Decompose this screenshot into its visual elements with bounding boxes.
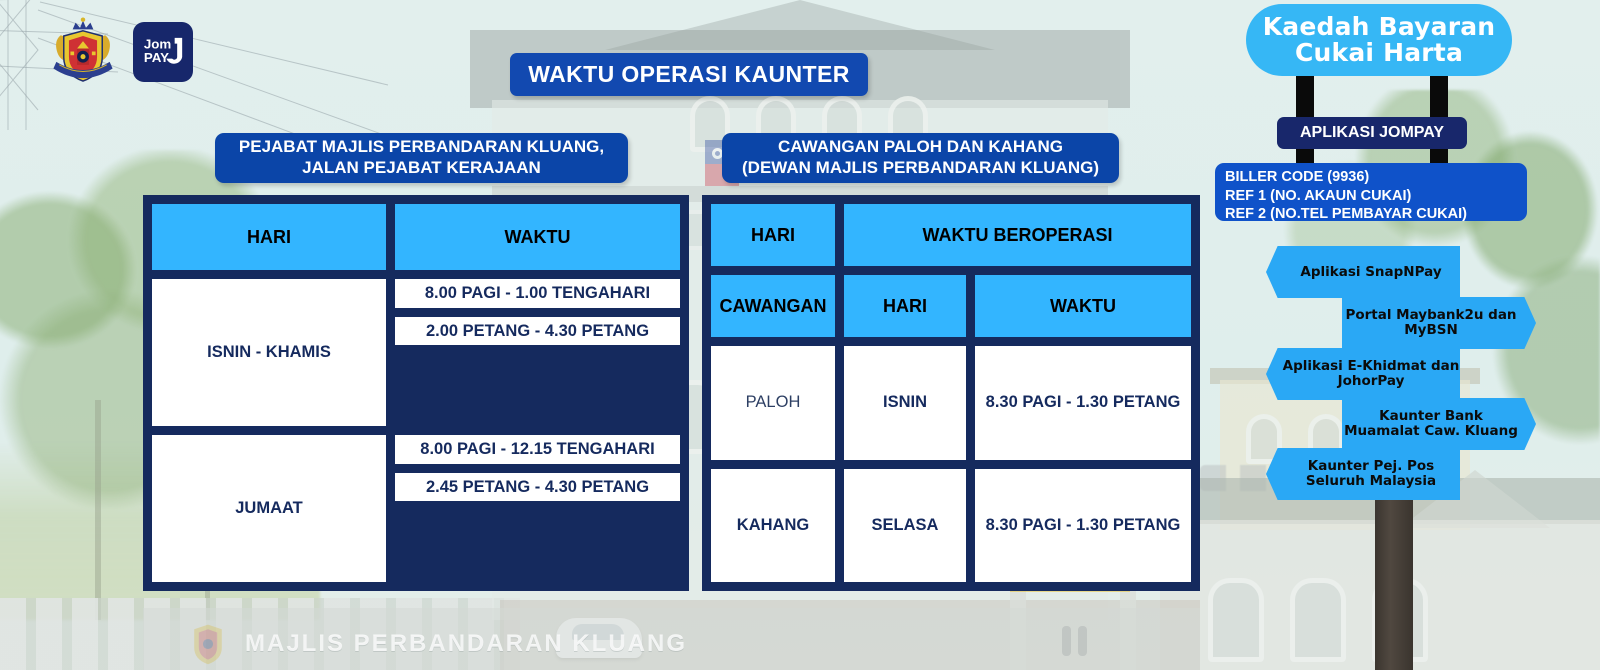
- table-header-row: HARI WAKTU: [152, 204, 680, 270]
- signpost-headline-line2: Cukai Harta: [1263, 40, 1496, 66]
- time-cell: 8.00 PAGI - 12.15 TENGAHARI: [395, 435, 680, 464]
- branch-cell-paloh: PALOH: [711, 346, 835, 460]
- biller-info-panel: BILLER CODE (9936) REF 1 (NO. AKAUN CUKA…: [1215, 163, 1527, 221]
- column-header-waktu-beroperasi: WAKTU BEROPERASI: [844, 204, 1191, 266]
- branch-cell-kahang: KAHANG: [711, 469, 835, 583]
- column-header-waktu: WAKTU: [395, 204, 680, 270]
- svg-text:PAY: PAY: [144, 50, 169, 65]
- time-cell: 8.30 PAGI - 1.30 PETANG: [975, 346, 1191, 460]
- time-cell: 2.00 PETANG - 4.30 PETANG: [395, 317, 680, 346]
- table-header-row-top: HARI WAKTU BEROPERASI: [711, 204, 1191, 266]
- column-header-hari: HARI: [711, 204, 835, 266]
- right-section-banner: CAWANGAN PALOH DAN KAHANG (DEWAN MAJLIS …: [722, 133, 1119, 183]
- payment-channel-arrow-5[interactable]: Kaunter Pej. Pos Seluruh Malaysia: [1266, 448, 1460, 500]
- time-cell: 8.30 PAGI - 1.30 PETANG: [975, 469, 1191, 583]
- time-cell: 8.00 PAGI - 1.00 TENGAHARI: [395, 279, 680, 308]
- page-title: WAKTU OPERASI KAUNTER: [510, 53, 868, 96]
- payment-channel-arrow-1[interactable]: Aplikasi SnapNPay: [1266, 246, 1460, 298]
- time-cell: 2.45 PETANG - 4.30 PETANG: [395, 473, 680, 502]
- counter-hours-table-branches: HARI WAKTU BEROPERASI CAWANGAN HARI WAKT…: [702, 195, 1200, 591]
- column-header-hari: HARI: [152, 204, 386, 270]
- payment-channel-arrow-3[interactable]: Aplikasi E-Khidmat dan JohorPay: [1266, 348, 1460, 400]
- column-header-hari-sub: HARI: [844, 275, 966, 337]
- table-header-row-sub: CAWANGAN HARI WAKTU: [711, 275, 1191, 337]
- day-cell-selasa: SELASA: [844, 469, 966, 583]
- column-header-cawangan: CAWANGAN: [711, 275, 835, 337]
- counter-hours-table-main: HARI WAKTU ISNIN - KHAMIS 8.00 PAGI - 1.…: [143, 195, 689, 591]
- payment-channel-arrow-4[interactable]: Kaunter Bank Muamalat Caw. Kluang: [1342, 398, 1536, 450]
- table-row: JUMAAT 8.00 PAGI - 12.15 TENGAHARI 2.45 …: [152, 435, 680, 582]
- signpost-headline: Kaedah Bayaran Cukai Harta: [1246, 4, 1512, 76]
- right-section-banner-text: CAWANGAN PALOH DAN KAHANG (DEWAN MAJLIS …: [742, 137, 1099, 178]
- left-section-banner: PEJABAT MAJLIS PERBANDARAN KLUANG, JALAN…: [215, 133, 628, 183]
- day-cell-isnin-khamis: ISNIN - KHAMIS: [152, 279, 386, 426]
- left-section-banner-text: PEJABAT MAJLIS PERBANDARAN KLUANG, JALAN…: [239, 137, 604, 178]
- day-cell-isnin: ISNIN: [844, 346, 966, 460]
- table-row: KAHANG SELASA 8.30 PAGI - 1.30 PETANG: [711, 469, 1191, 583]
- aplikasi-jompay-label: APLIKASI JOMPAY: [1277, 117, 1467, 149]
- column-header-waktu-sub: WAKTU: [975, 275, 1191, 337]
- table-row: PALOH ISNIN 8.30 PAGI - 1.30 PETANG: [711, 346, 1191, 460]
- johor-state-crest-icon: [45, 16, 121, 90]
- signpost-headline-line1: Kaedah Bayaran: [1263, 14, 1496, 40]
- jompay-logo-icon: Jom PAY: [133, 22, 193, 82]
- payment-channel-arrow-2[interactable]: Portal Maybank2u dan MyBSN: [1342, 297, 1536, 349]
- table-row: ISNIN - KHAMIS 8.00 PAGI - 1.00 TENGAHAR…: [152, 279, 680, 426]
- day-cell-jumaat: JUMAAT: [152, 435, 386, 582]
